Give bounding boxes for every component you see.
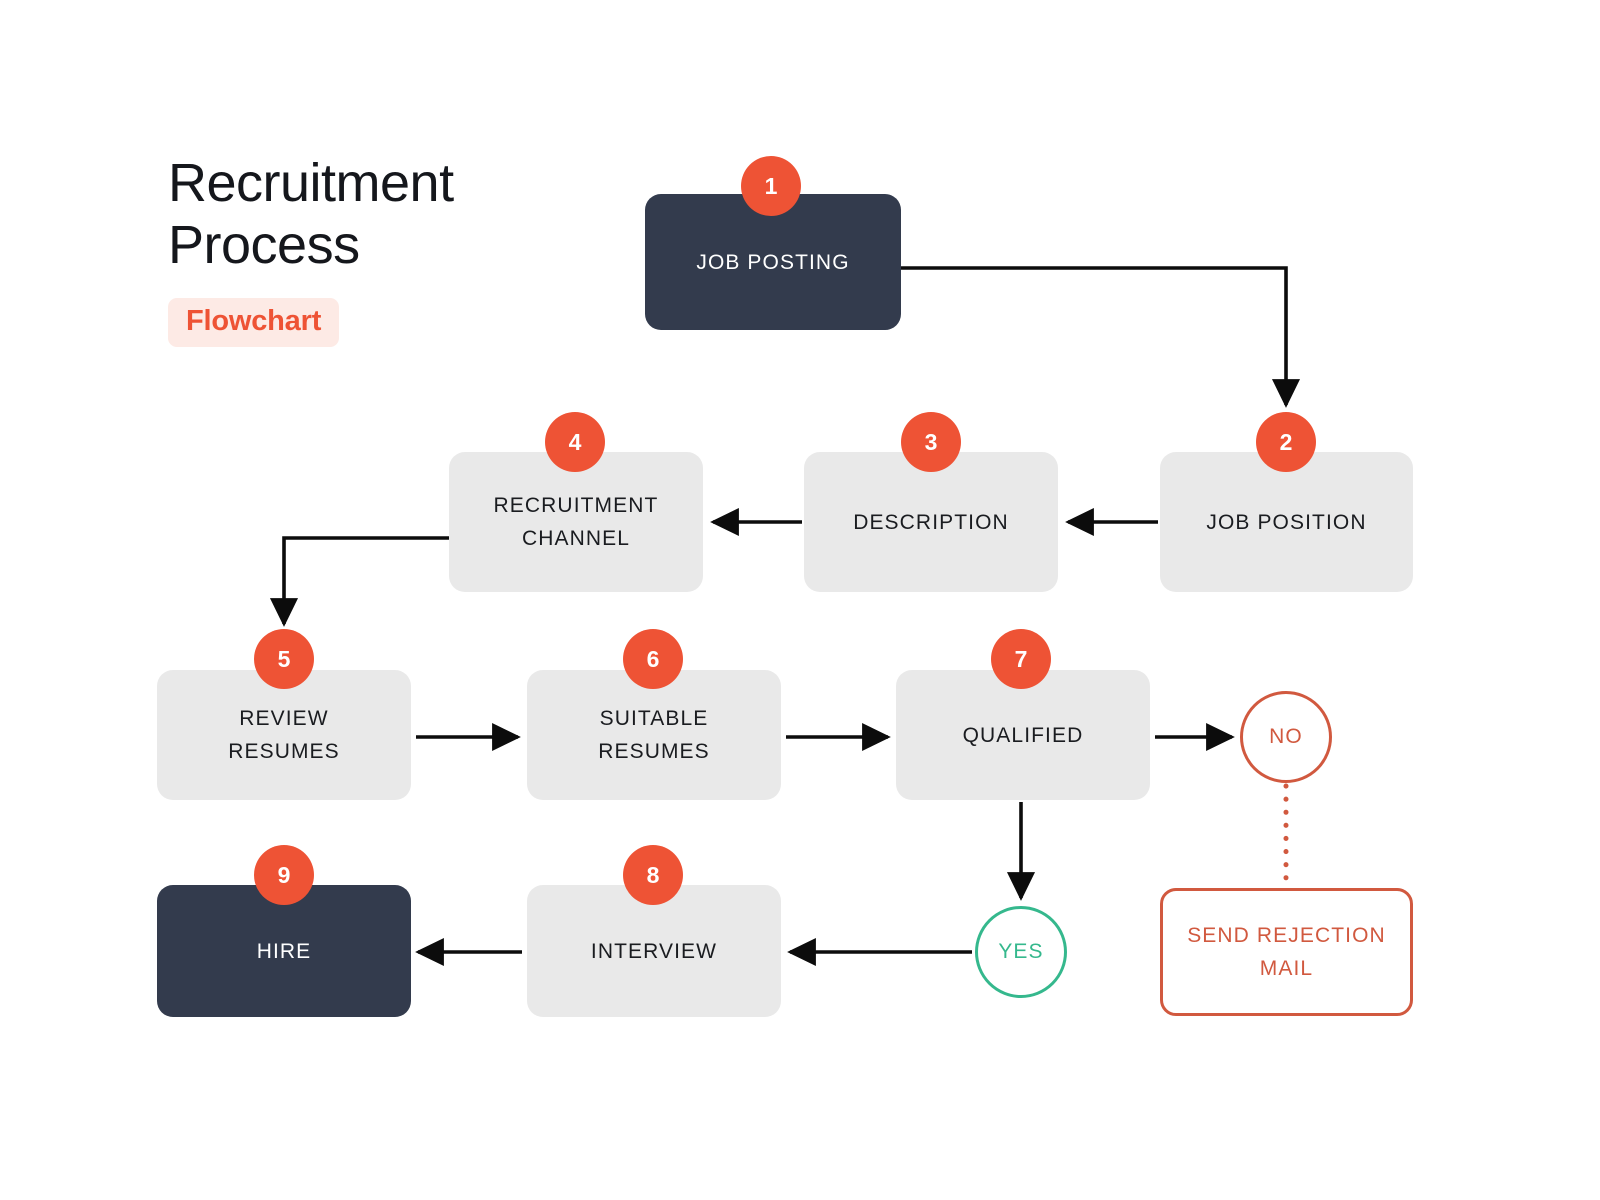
node-job-posting-label: JOB POSTING bbox=[696, 246, 849, 279]
step-badge-1: 1 bbox=[741, 156, 801, 216]
page-title: Recruitment Process bbox=[168, 152, 588, 276]
node-send-rejection-mail[interactable]: SEND REJECTION MAIL bbox=[1160, 888, 1413, 1016]
step-badge-8: 8 bbox=[623, 845, 683, 905]
decision-yes[interactable]: YES bbox=[975, 906, 1067, 998]
step-badge-8-number: 8 bbox=[647, 862, 660, 889]
decision-no[interactable]: NO bbox=[1240, 691, 1332, 783]
connector-recruitment-channel-to-review-resumes bbox=[284, 538, 450, 624]
step-badge-5-number: 5 bbox=[278, 646, 291, 673]
step-badge-6-number: 6 bbox=[647, 646, 660, 673]
step-badge-4: 4 bbox=[545, 412, 605, 472]
node-recruitment-channel[interactable]: RECRUITMENT CHANNEL bbox=[449, 452, 703, 592]
node-hire-label: HIRE bbox=[257, 935, 312, 968]
step-badge-9: 9 bbox=[254, 845, 314, 905]
step-badge-2: 2 bbox=[1256, 412, 1316, 472]
step-badge-1-number: 1 bbox=[765, 173, 778, 200]
step-badge-9-number: 9 bbox=[278, 862, 291, 889]
node-suitable-resumes-label: SUITABLE RESUMES bbox=[598, 702, 710, 768]
node-description[interactable]: DESCRIPTION bbox=[804, 452, 1058, 592]
step-badge-7: 7 bbox=[991, 629, 1051, 689]
node-interview-label: INTERVIEW bbox=[591, 935, 717, 968]
decision-yes-label: YES bbox=[998, 940, 1043, 964]
step-badge-3-number: 3 bbox=[925, 429, 938, 456]
subtitle-badge: Flowchart bbox=[168, 298, 339, 347]
node-suitable-resumes[interactable]: SUITABLE RESUMES bbox=[527, 670, 781, 800]
node-job-position-label: JOB POSITION bbox=[1206, 506, 1366, 539]
step-badge-5: 5 bbox=[254, 629, 314, 689]
node-recruitment-channel-label: RECRUITMENT CHANNEL bbox=[494, 489, 659, 555]
step-badge-7-number: 7 bbox=[1015, 646, 1028, 673]
node-description-label: DESCRIPTION bbox=[853, 506, 1009, 539]
node-job-position[interactable]: JOB POSITION bbox=[1160, 452, 1413, 592]
flowchart-canvas: Recruitment Process Flowchart JOB POSTIN… bbox=[0, 0, 1600, 1200]
node-review-resumes-label: REVIEW RESUMES bbox=[228, 702, 340, 768]
node-review-resumes[interactable]: REVIEW RESUMES bbox=[157, 670, 411, 800]
node-qualified-label: QUALIFIED bbox=[963, 719, 1084, 752]
node-qualified[interactable]: QUALIFIED bbox=[896, 670, 1150, 800]
step-badge-2-number: 2 bbox=[1280, 429, 1293, 456]
step-badge-6: 6 bbox=[623, 629, 683, 689]
connector-job-posting-to-job-position bbox=[901, 268, 1286, 405]
node-send-rejection-mail-label: SEND REJECTION MAIL bbox=[1187, 919, 1386, 985]
step-badge-4-number: 4 bbox=[569, 429, 582, 456]
title-block: Recruitment Process Flowchart bbox=[168, 152, 588, 347]
decision-no-label: NO bbox=[1269, 725, 1303, 749]
step-badge-3: 3 bbox=[901, 412, 961, 472]
